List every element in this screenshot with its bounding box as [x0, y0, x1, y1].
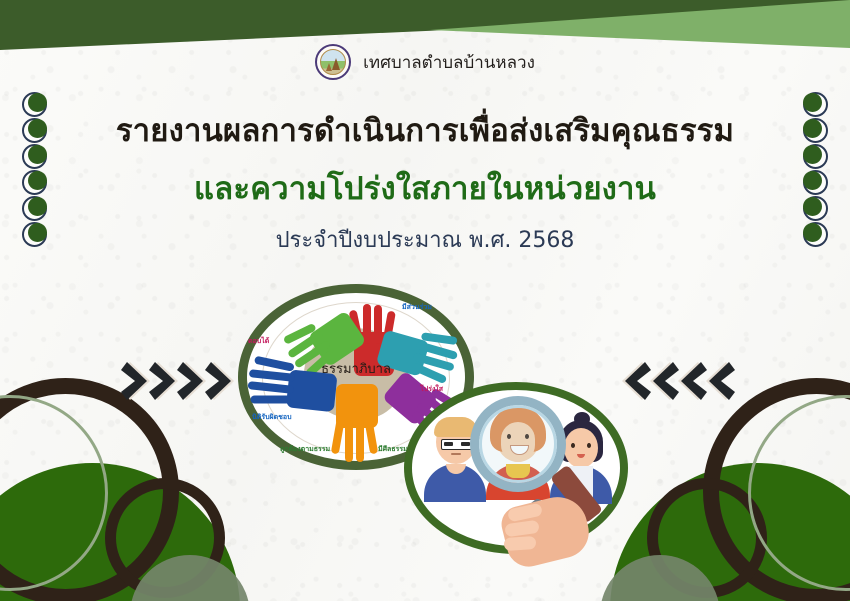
person-mouth	[451, 453, 461, 455]
seal-pagoda-icon	[332, 58, 340, 70]
hands-label-5: นิติรับผิดชอบ	[252, 412, 292, 423]
person-eye-right	[587, 443, 591, 448]
magnifier-lens-inner	[479, 405, 557, 483]
municipal-seal-icon	[315, 44, 351, 80]
hands-label-1: มีส่วนร่วม	[402, 302, 432, 313]
person-head	[564, 428, 598, 468]
chevron-right-icon	[208, 362, 234, 400]
chevron-right-icon	[124, 362, 150, 400]
chevron-left-icon	[650, 362, 676, 400]
chevron-group-left	[124, 362, 234, 400]
glasses-icon	[441, 439, 473, 450]
hand-finger-3	[504, 536, 537, 551]
hands-label-4: ถูกต้องตามธรรม	[280, 444, 330, 455]
people-magnifier-graphic	[404, 382, 628, 554]
person-eye-left	[571, 443, 575, 448]
chevron-right-icon	[152, 362, 178, 400]
header-row: เทศบาลตำบลบ้านหลวง	[0, 44, 850, 80]
hands-label-0: ตอบได้	[248, 336, 269, 347]
chevron-group-right	[622, 362, 732, 400]
hands-center-label: ธรรมาภิบาล	[238, 358, 474, 379]
title-line-1: รายงานผลการดำเนินการเพื่อส่งเสริมคุณธรรม	[0, 105, 850, 155]
chevron-left-icon	[678, 362, 704, 400]
title-subtitle: ประจำปีงบประมาณ พ.ศ. 2568	[0, 222, 850, 257]
chevron-left-icon	[706, 362, 732, 400]
chevron-right-icon	[180, 362, 206, 400]
title-line-2: และความโปร่งใสภายในหน่วยงาน	[0, 163, 850, 213]
organization-name: เทศบาลตำบลบ้านหลวง	[363, 49, 535, 76]
poster-canvas: เทศบาลตำบลบ้านหลวง รายงานผลการดำเนินการเ…	[0, 0, 850, 601]
